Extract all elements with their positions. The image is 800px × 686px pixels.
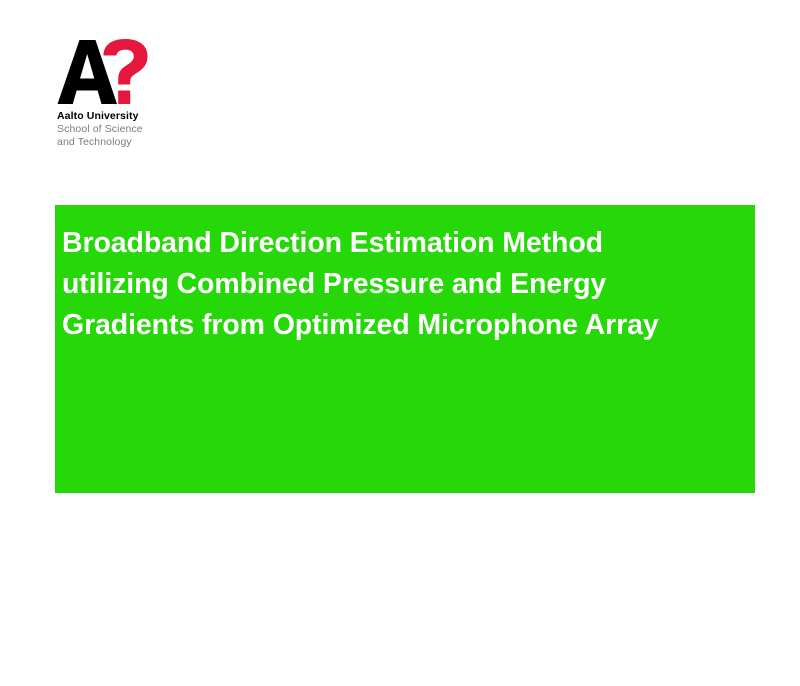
title-panel: Broadband Direction Estimation Method ut… <box>55 205 755 493</box>
logo-unit-line-2: and Technology <box>57 136 237 149</box>
author-list: Jukka Ahonen and Ville Pulkki <box>117 587 333 607</box>
logo-wordmark: Aalto University School of Science and T… <box>57 110 237 148</box>
slide-title-line-1: Broadband Direction Estimation Method <box>62 223 731 264</box>
slide-title-line-2: utilizing Combined Pressure and Energy <box>62 264 731 305</box>
aalto-a-question-mark-icon <box>57 38 149 106</box>
slide-title-line-3: Gradients from Optimized Microphone Arra… <box>62 305 731 346</box>
affiliation-line: Department of Signal Processing and Acou… <box>117 631 445 647</box>
presentation-date: 27.5.2011 <box>117 666 183 686</box>
slide-title: Broadband Direction Estimation Method ut… <box>62 223 731 346</box>
aalto-university-logo: Aalto University School of Science and T… <box>57 38 237 158</box>
logo-organization-name: Aalto University <box>57 110 237 123</box>
logo-unit-line-1: School of Science <box>57 123 237 136</box>
